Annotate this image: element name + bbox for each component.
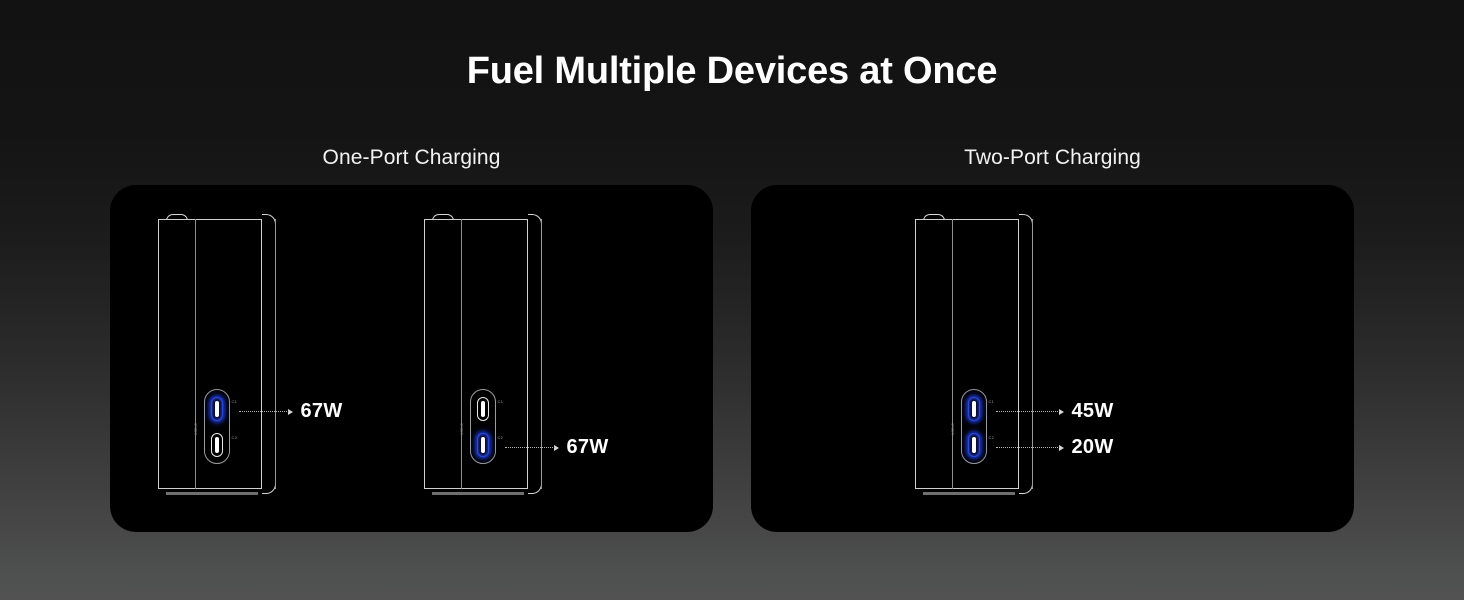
port-designator-c2-1: C2	[232, 435, 238, 440]
wattage-label-c1-device-1: 67W	[301, 400, 343, 423]
promo-graphic-page: { "header": { "title": "Fuel Multiple De…	[0, 0, 1464, 600]
charger-seam-line-1	[195, 219, 196, 489]
port-slot-icon	[215, 437, 219, 453]
usb-c-silkscreen-label-2: USB-C	[460, 415, 468, 443]
port-slot-icon	[215, 401, 219, 417]
port-designator-c1-3: C1	[989, 399, 995, 404]
wattage-label-c1-device-3: 45W	[1072, 400, 1114, 423]
leader-line-icon	[996, 447, 1060, 448]
usb-c-silkscreen-label-1: USB-C	[194, 415, 202, 443]
port-housing-1	[204, 389, 230, 464]
charger-seam-line-3	[952, 219, 953, 489]
port-designator-c1-1: C1	[232, 399, 238, 404]
usb-c-port-c2-inactive[interactable]	[211, 433, 223, 457]
port-designator-c2-3: C2	[989, 435, 995, 440]
charger-side-edge-1	[275, 219, 276, 489]
port-slot-icon	[481, 401, 485, 417]
page-title: Fuel Multiple Devices at Once	[0, 0, 1464, 90]
device-unit-3: USB-C C1 C2 45W	[903, 209, 1203, 509]
callout-c2-device-3: 20W	[996, 439, 1114, 457]
usb-c-port-c1-inactive[interactable]	[477, 397, 489, 421]
port-slot-icon	[481, 437, 485, 453]
charger-base-line-2	[432, 492, 524, 495]
column-title-two-port: Two-Port Charging	[751, 143, 1354, 185]
port-designator-c2-2: C2	[498, 435, 504, 440]
usb-c-port-c1-active[interactable]	[968, 397, 980, 421]
usb-c-port-c2-active[interactable]	[477, 433, 489, 457]
wattage-label-c2-device-2: 67W	[567, 436, 609, 459]
column-title-one-port: One-Port Charging	[110, 143, 713, 185]
usb-c-port-c1-active[interactable]	[211, 397, 223, 421]
device-unit-1: USB-C C1 C2 67W	[146, 209, 412, 509]
column-two-port: Two-Port Charging USB-C	[751, 143, 1354, 532]
port-housing-2	[470, 389, 496, 464]
callout-c2-device-2: 67W	[505, 439, 609, 457]
leader-line-icon	[505, 447, 555, 448]
wattage-label-c2-device-3: 20W	[1072, 436, 1114, 459]
port-slot-icon	[972, 401, 976, 417]
column-one-port: One-Port Charging USB-C	[110, 143, 713, 532]
port-slot-icon	[972, 437, 976, 453]
callout-c1-device-3: 45W	[996, 403, 1114, 421]
panel-two-port: USB-C C1 C2 45W	[751, 185, 1354, 532]
charger-side-wall-1	[262, 214, 276, 494]
leader-line-icon	[239, 411, 289, 412]
callout-c1-device-1: 67W	[239, 403, 343, 421]
charging-scenarios: One-Port Charging USB-C	[0, 143, 1464, 532]
charger-base-line-3	[923, 492, 1015, 495]
port-housing-3	[961, 389, 987, 464]
leader-line-icon	[996, 411, 1060, 412]
usb-c-silkscreen-label-3: USB-C	[951, 415, 959, 443]
port-designator-c1-2: C1	[498, 399, 504, 404]
device-unit-2: USB-C C1 C2 67W	[412, 209, 678, 509]
charger-seam-line-2	[461, 219, 462, 489]
panel-one-port: USB-C C1 C2 67W	[110, 185, 713, 532]
charger-base-line-1	[166, 492, 258, 495]
usb-c-port-c2-active[interactable]	[968, 433, 980, 457]
